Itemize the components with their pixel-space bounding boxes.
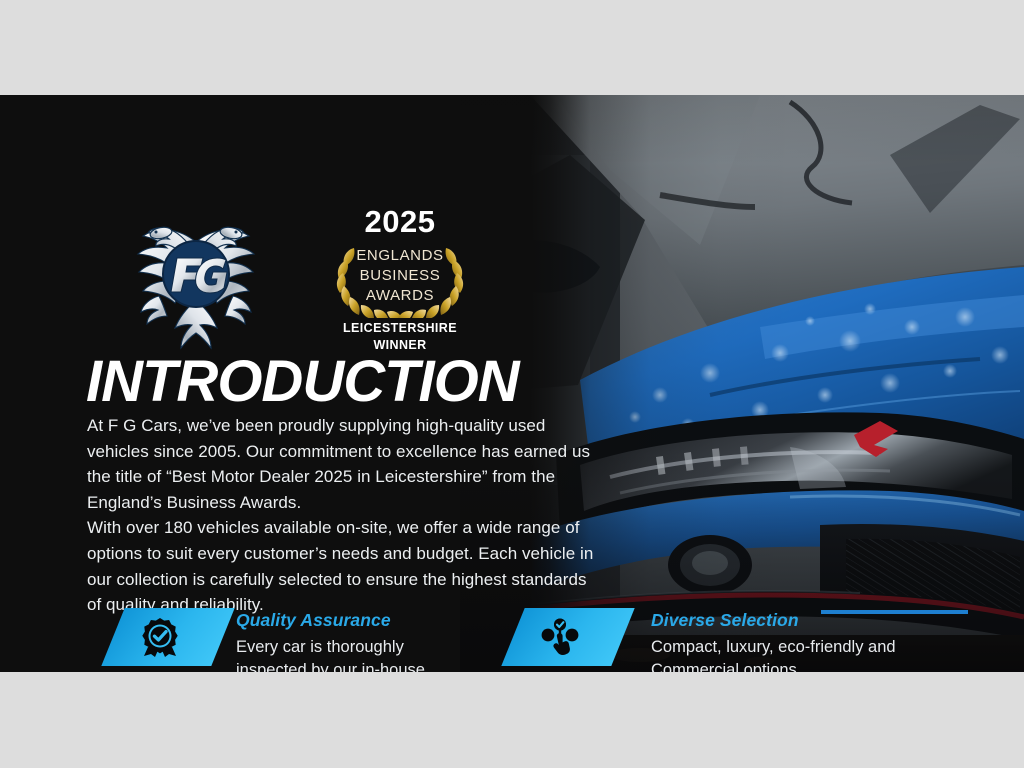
presentation-slide: 2025 (0, 95, 1024, 672)
award-badge: 2025 (332, 205, 468, 355)
feature-icon-tile (113, 608, 223, 666)
feature-description: Every car is thoroughly inspected by our… (236, 636, 456, 672)
feature-title: Diverse Selection (651, 610, 799, 631)
feature-title: Quality Assurance (236, 610, 391, 631)
award-year: 2025 (332, 205, 468, 239)
feature-icon-tile (513, 608, 623, 666)
feature-quality-assurance: Quality Assurance Every car is thoroughl… (113, 608, 453, 672)
body-paragraph-2: With over 180 vehicles available on-site… (87, 515, 599, 617)
body-paragraph-1: At F G Cars, we’ve been proudly supplyin… (87, 413, 599, 515)
page-title: INTRODUCTION (86, 351, 519, 413)
award-wreath: ENGLANDS BUSINESS AWARDS (332, 240, 468, 318)
award-region: LEICESTERSHIRE (332, 320, 468, 337)
award-line-3: AWARDS (332, 286, 468, 306)
fg-cars-eagle-logo (117, 208, 275, 353)
accent-underline (821, 610, 968, 614)
selection-hand-choice-icon (540, 617, 580, 657)
quality-badge-check-icon (140, 617, 180, 657)
award-organisation: ENGLANDS BUSINESS AWARDS (332, 246, 468, 306)
feature-description: Compact, luxury, eco-friendly and Commer… (651, 636, 941, 672)
slide-canvas: 2025 (0, 0, 1024, 768)
award-line-1: ENGLANDS (332, 246, 468, 266)
feature-diverse-selection: Diverse Selection Compact, luxury, eco-f… (513, 608, 933, 672)
introduction-body: At F G Cars, we’ve been proudly supplyin… (87, 413, 599, 618)
award-line-2: BUSINESS (332, 266, 468, 286)
